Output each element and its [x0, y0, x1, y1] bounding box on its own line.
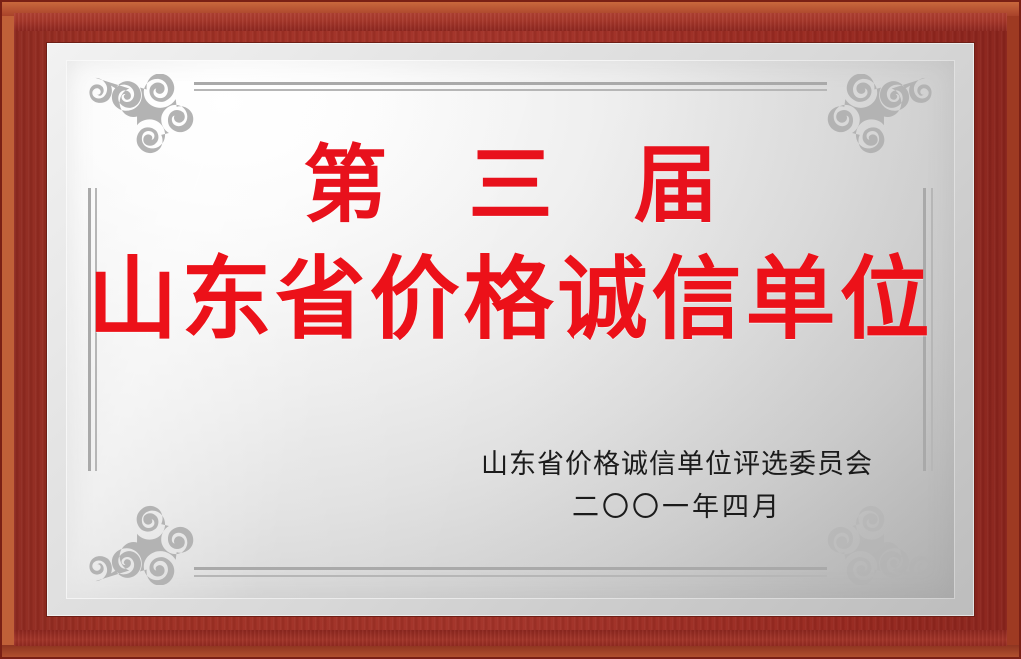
issue-date: 二〇〇一年四月 — [481, 491, 873, 525]
award-title-line-2: 山东省价格诚信单位 — [88, 252, 934, 347]
issuing-organization: 山东省价格诚信单位评选委员会 — [481, 448, 873, 482]
award-plaque: 第 三 届 山东省价格诚信单位 山东省价格诚信单位评选委员会 二〇〇一年四月 — [0, 0, 1021, 659]
award-title-line-1: 第 三 届 — [277, 142, 744, 228]
inscription-plate: 第 三 届 山东省价格诚信单位 山东省价格诚信单位评选委员会 二〇〇一年四月 — [66, 60, 955, 599]
signature-block: 山东省价格诚信单位评选委员会 二〇〇一年四月 — [481, 448, 873, 526]
